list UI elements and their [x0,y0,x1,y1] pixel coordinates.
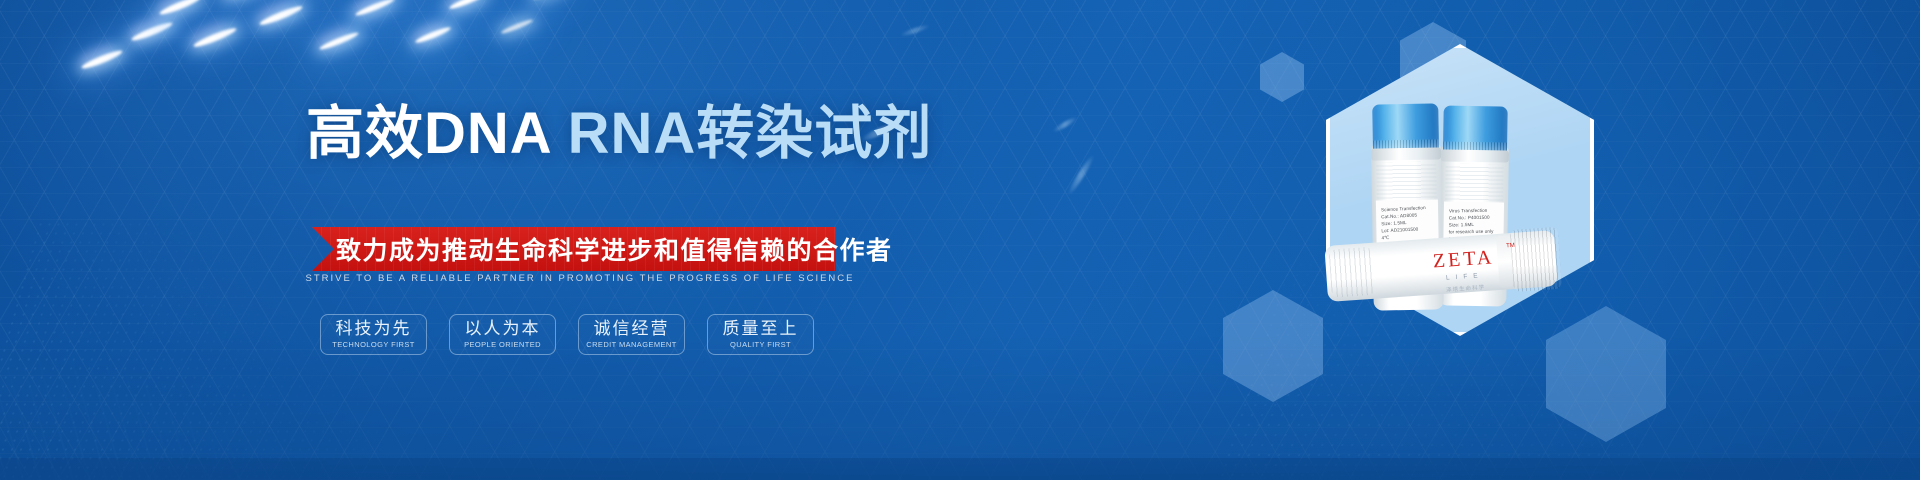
vial-collar [1371,147,1441,160]
badge-label-en: CREDIT MANAGEMENT [586,340,676,349]
hexagon-decoration-large-right [1546,306,1666,442]
headline-segment-primary: 高效DNA [306,101,568,166]
badge-label-cn: 以人为本 [465,320,541,338]
vial-cap-blue [1372,103,1439,150]
vial-contents [1376,161,1437,202]
banner-headline: 高效DNA RNA转染试剂 [306,104,932,165]
badge-label-en: PEOPLE ORIENTED [464,340,541,349]
hexagon-decoration-small [1260,52,1304,102]
value-badge-list: 科技为先 TECHNOLOGY FIRST 以人为本 PEOPLE ORIENT… [320,314,814,355]
value-badge-quality-first[interactable]: 质量至上 QUALITY FIRST [707,314,814,355]
value-badge-technology-first[interactable]: 科技为先 TECHNOLOGY FIRST [320,314,427,355]
hexagon-decoration-large-left [1223,290,1323,402]
badge-label-en: QUALITY FIRST [730,340,791,349]
vial-cap-blue [1443,105,1508,152]
trademark-icon: TM [1506,243,1515,250]
slogan-text-en: STRIVE TO BE A RELIABLE PARTNER IN PROMO… [300,273,860,284]
vial-collar [1441,149,1509,162]
banner-text-content: 高效DNA RNA转染试剂 致力成为推动生命科学进步和值得信赖的合作者 STRI… [0,0,1040,480]
badge-label-cn: 诚信经营 [594,320,670,338]
product-brand-mark: ZETA TM LIFE 泽塔生命科学 [1403,244,1526,296]
headline-segment-secondary: RNA转染试剂 [568,101,933,166]
slogan-text-cn: 致力成为推动生命科学进步和值得信赖的合作者 [336,231,836,267]
badge-label-cn: 科技为先 [336,320,412,338]
vial-contents [1445,164,1504,205]
promo-banner: 高效DNA RNA转染试剂 致力成为推动生命科学进步和值得信赖的合作者 STRI… [0,0,1920,480]
product-showcase: Virus Transfection Cat.No.: P4001500 Siz… [1040,0,1920,480]
badge-label-cn: 质量至上 [723,320,799,338]
value-badge-credit-management[interactable]: 诚信经营 CREDIT MANAGEMENT [578,314,685,355]
value-badge-people-oriented[interactable]: 以人为本 PEOPLE ORIENTED [449,314,556,355]
badge-label-en: TECHNOLOGY FIRST [332,340,415,349]
vial-ridges [1329,247,1376,298]
